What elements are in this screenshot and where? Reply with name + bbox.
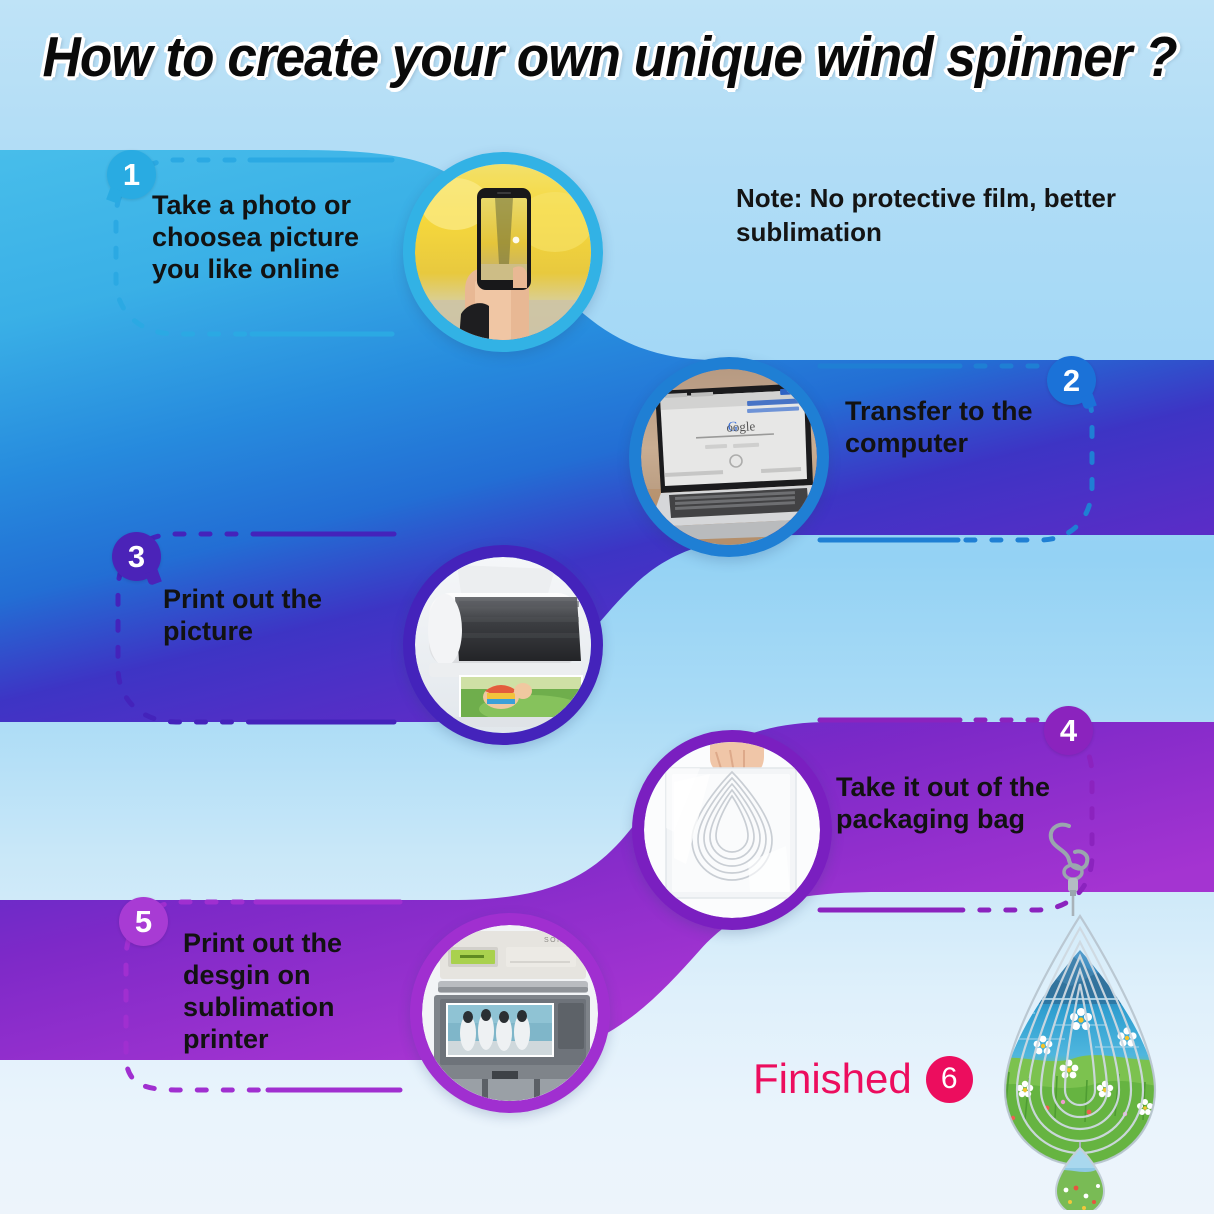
step-badge-5: 5	[119, 897, 168, 946]
step-badge-2-number: 2	[1063, 365, 1080, 396]
infographic-canvas: How to create your own unique wind spinn…	[0, 0, 1214, 1214]
finished-badge-6: 6	[926, 1056, 973, 1103]
step-badge-3: 3	[112, 532, 161, 581]
step-badge-1: 1	[107, 150, 156, 199]
finished-label-group: Finished 6	[753, 1055, 973, 1103]
step-text-2: Transfer to the computer	[845, 396, 1105, 460]
step-text-1: Take a photo or choosea picture you like…	[152, 190, 412, 286]
s-hook-icon	[1051, 825, 1088, 869]
step-badge-4-number: 4	[1060, 715, 1077, 746]
svg-text:oogle: oogle	[726, 418, 756, 434]
step-badge-1-number: 1	[123, 159, 140, 190]
step-badge-5-number: 5	[135, 906, 152, 937]
step-image-sublimation-printer: SONY	[410, 913, 610, 1113]
step-image-print-picture	[403, 545, 603, 745]
note-text: Note: No protective film, better sublima…	[736, 182, 1116, 250]
step-badge-3-number: 3	[128, 541, 145, 572]
step-text-5: Print out the desgin on sublimation prin…	[183, 928, 413, 1055]
step-image-take-photo	[403, 152, 603, 352]
finished-label: Finished	[753, 1055, 912, 1103]
svg-text:SONY: SONY	[544, 937, 570, 944]
step-image-packaging-bag	[632, 730, 832, 930]
swivel-icon	[1064, 865, 1082, 916]
teardrop-body	[985, 912, 1175, 1172]
step-badge-4: 4	[1044, 706, 1093, 755]
step-image-transfer-to-computer: G oogle	[629, 357, 829, 557]
product-wind-spinner	[985, 820, 1175, 1210]
step-text-3: Print out the picture	[163, 584, 413, 648]
